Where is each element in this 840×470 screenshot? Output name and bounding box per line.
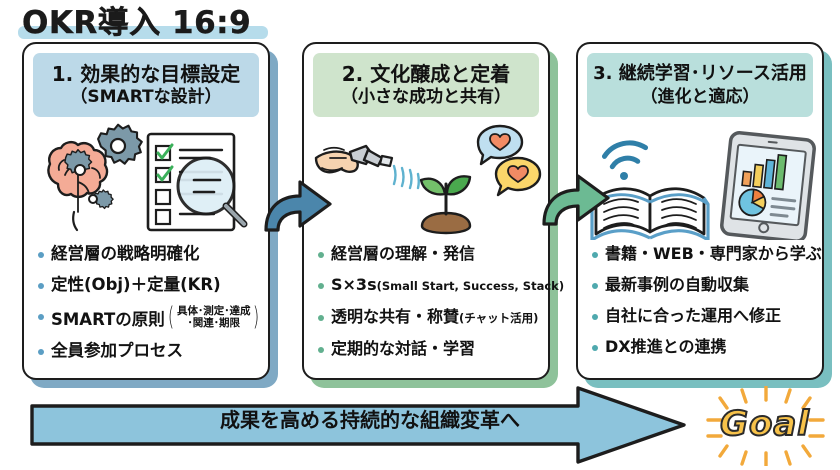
bullet-text: 経営層の理解・発信 [331,242,475,266]
goal-label: Goal [700,404,830,444]
sprout-icon [421,176,470,233]
arrow-card2-to-card3 [540,166,614,228]
card-3-title: 3. 継続学習･リソース活用 [593,62,807,86]
card-1-title: 1. 効果的な目標設定 [52,62,240,86]
bullet-text: 最新事例の自動収集 [605,273,749,297]
bullet-dot [318,283,324,289]
tablet-chart-icon [721,132,815,240]
card-3-bullet-list: 書籍・WEB・専門家から学ぶ 最新事例の自動収集 自社に合った運用へ修正 DX推… [590,242,814,366]
infographic-canvas: OKR導入 16:9 1. 効果的な目標設定 （SMARTな設計） [0,0,840,468]
bullet-dot [592,252,598,258]
bullet-dot [592,345,598,351]
card-3-header: 3. 継続学習･リソース活用 （進化と適応） [587,53,813,117]
card-3-illustration [584,122,816,240]
bullet-text: 全員参加プロセス [51,339,183,363]
card-1-illustration [30,122,262,240]
bullet-note: (Small Start, Success, Stack) [377,279,564,293]
bullet-text: 定性(Obj)＋定量(KR) [51,273,221,297]
card-1-header: 1. 効果的な目標設定 （SMARTな設計） [33,53,259,117]
card-3-subtitle: （進化と適応） [641,86,760,108]
bullet-note: (チャット活用) [459,311,538,325]
card-2-header: 2. 文化醸成と定着 （小さな成功と共有） [313,53,539,117]
bullet-note-line1: 具体･測定･達成 [177,305,251,317]
card-2-bullet-list: 経営層の理解・発信 S×3s(Small Start, Success, Sta… [316,242,540,368]
bullet-dot [318,347,324,353]
card-step-2[interactable]: 2. 文化醸成と定着 （小さな成功と共有） [302,42,550,380]
bullet-text: 書籍・WEB・専門家から学ぶ [605,242,822,266]
list-item: SMARTの原則(具体･測定･達成･関連･期限) [36,304,260,332]
bullet-note-line2: ･関連･期限 [187,317,240,329]
list-item: S×3s(Small Start, Success, Stack) [316,273,540,298]
card-1-bullet-list: 経営層の戦略明確化 定性(Obj)＋定量(KR) SMARTの原則(具体･測定･… [36,242,260,370]
footer-arrow-label: 成果を高める持続的な組織変革へ [180,404,560,433]
bullet-note: (具体･測定･達成･関連･期限) [166,304,262,330]
card-step-1[interactable]: 1. 効果的な目標設定 （SMARTな設計） [22,42,270,380]
water-drops-icon [394,166,419,188]
bullet-text: SMARTの原則 [51,308,165,332]
card-2-title: 2. 文化醸成と定着 [342,62,510,86]
bullet-text: S×3s [331,273,377,297]
list-item: DX推進との連携 [590,335,814,359]
bullet-dot [592,283,598,289]
bullet-text: 透明な共有・称賛 [331,305,459,329]
bullet-dot [318,252,324,258]
bullet-text: DX推進との連携 [605,335,726,359]
list-item: 経営層の理解・発信 [316,242,540,266]
bullet-dot [38,314,44,320]
list-item: 定期的な対話・学習 [316,337,540,361]
page-title: OKR導入 16:9 [22,4,251,44]
card-2-illustration [310,122,542,240]
bullet-text: 自社に合った運用へ修正 [605,304,781,328]
bullet-dot [38,252,44,258]
bullet-text: 経営層の戦略明確化 [51,242,200,266]
bullet-dot [38,349,44,355]
heart-speech-bubble-secondary-icon [496,158,540,195]
list-item: 書籍・WEB・専門家から学ぶ [590,242,814,266]
bullet-dot [592,314,598,320]
bullet-dot [38,283,44,289]
bullet-text: 定期的な対話・学習 [331,337,475,361]
list-item: 経営層の戦略明確化 [36,242,260,266]
goal-badge: Goal [700,386,830,466]
list-item: 自社に合った運用へ修正 [590,304,814,328]
arrow-card1-to-card2 [262,172,336,234]
list-item: 最新事例の自動収集 [590,273,814,297]
list-item: 定性(Obj)＋定量(KR) [36,273,260,297]
card-1-subtitle: （SMARTな設計） [70,86,221,108]
card-2-subtitle: （小さな成功と共有） [341,86,511,108]
page-title-text: OKR導入 16:9 [22,4,251,42]
bullet-dot [318,315,324,321]
list-item: 全員参加プロセス [36,339,260,363]
list-item: 透明な共有・称賛(チャット活用) [316,305,540,330]
